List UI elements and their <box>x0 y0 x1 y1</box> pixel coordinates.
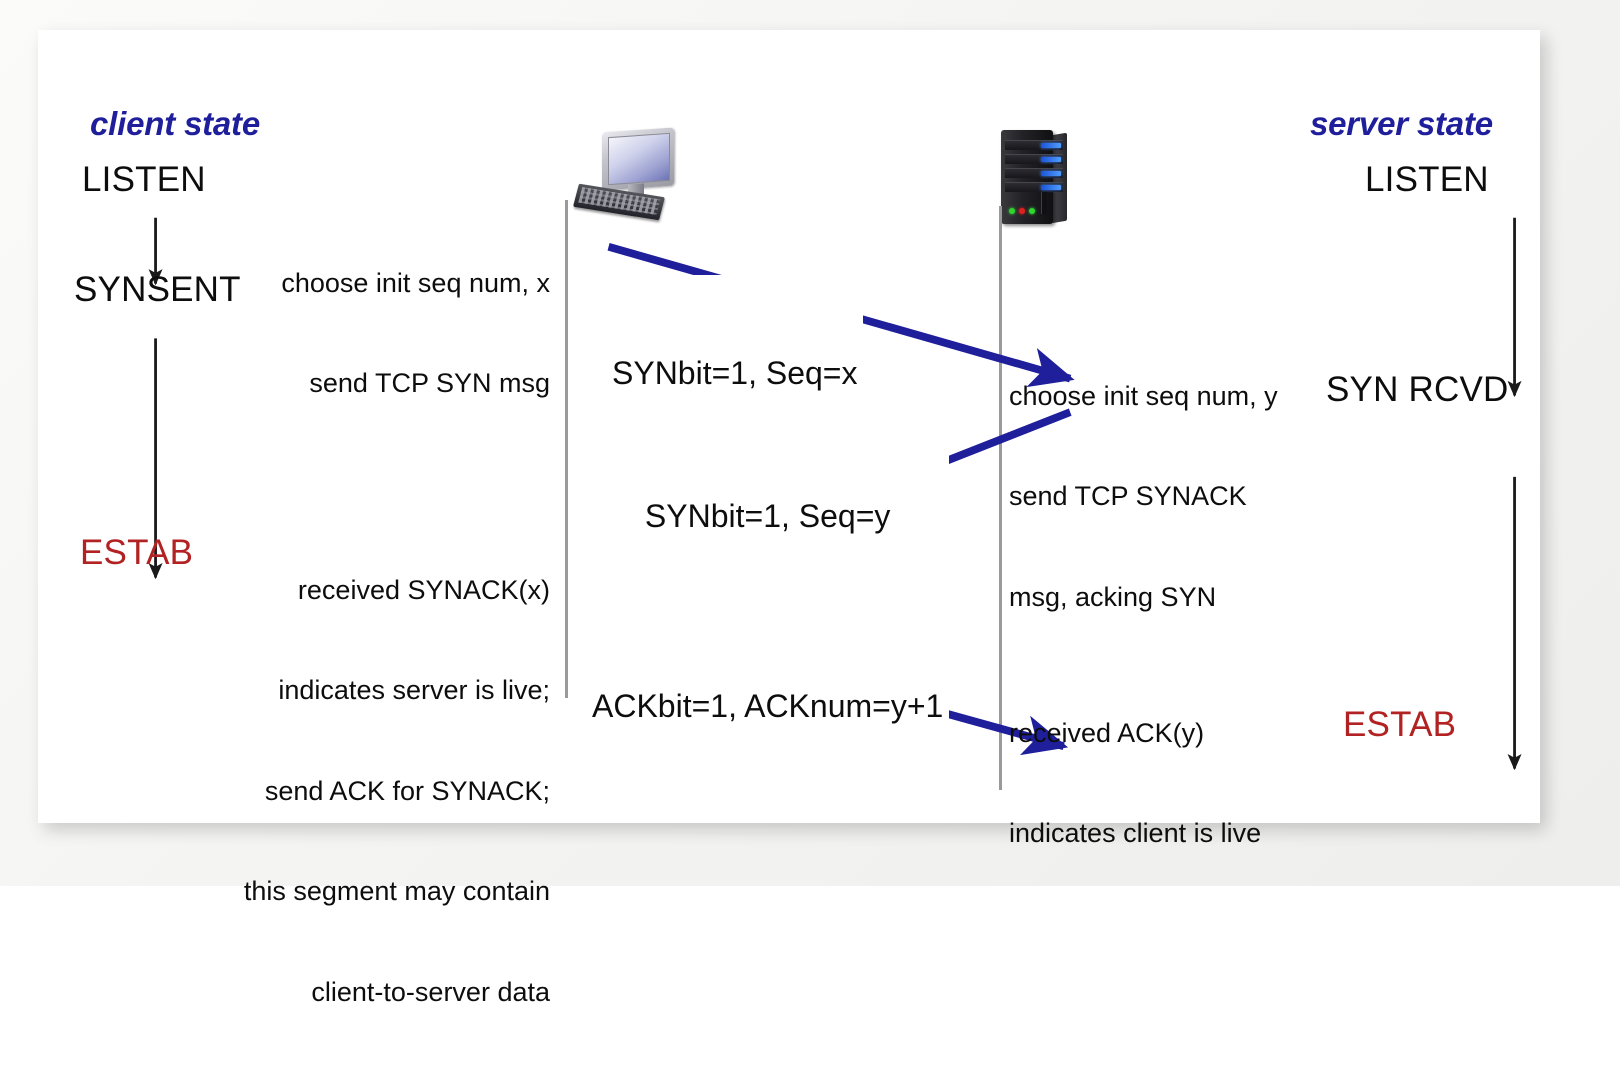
note-line: msg, acking SYN <box>1009 581 1369 614</box>
note-line: indicates client is live <box>1009 817 1349 850</box>
note-line: received SYNACK(x) <box>168 574 550 607</box>
message-label-ack: ACKbit=1, ACKnum=y+1 <box>586 608 949 805</box>
note-line: choose init seq num, x <box>210 267 550 300</box>
blue-led-indicator <box>1041 171 1061 176</box>
diagram-card: client state server state LISTEN SYNSENT… <box>38 30 1540 823</box>
client-state-header: client state <box>90 105 260 143</box>
server-front-slot <box>1041 192 1047 214</box>
server-drive-bay <box>1005 168 1063 178</box>
note-line: send ACK for SYNACK; <box>168 775 550 808</box>
server-state-header: server state <box>1310 105 1493 143</box>
blue-led-indicator <box>1041 157 1061 162</box>
note-line: indicates server is live; <box>168 674 550 707</box>
message-line: SYNbit=1, Seq=x <box>612 354 857 393</box>
note-client-send-syn: choose init seq num, x send TCP SYN msg <box>210 200 550 468</box>
client-state-listen: LISTEN <box>82 160 206 201</box>
red-status-light <box>1019 208 1025 214</box>
note-line: received ACK(y) <box>1009 717 1349 750</box>
desktop-computer-icon <box>574 128 682 226</box>
note-client-received-synack: received SYNACK(x) indicates server is l… <box>168 507 550 1076</box>
message-line: ACKbit=1, ACKnum=y+1 <box>592 687 943 726</box>
monitor-screen <box>608 133 670 185</box>
server-lifeline <box>999 206 1002 790</box>
blue-led-indicator <box>1041 143 1061 148</box>
note-line: client-to-server data <box>168 976 550 1009</box>
server-tower-icon <box>995 128 1081 228</box>
note-line: send TCP SYNACK <box>1009 480 1369 513</box>
green-status-light <box>1029 208 1035 214</box>
server-drive-bay <box>1005 182 1063 192</box>
server-drive-bay <box>1005 140 1063 150</box>
keyboard <box>573 184 665 221</box>
green-status-light <box>1009 208 1015 214</box>
note-line: choose init seq num, y <box>1009 380 1369 413</box>
note-server-send-synack: choose init seq num, y send TCP SYNACK m… <box>1009 313 1369 681</box>
server-drive-bay <box>1005 154 1063 164</box>
client-lifeline <box>565 200 568 698</box>
note-line: send TCP SYN msg <box>210 367 550 400</box>
blue-led-indicator <box>1041 185 1061 190</box>
server-state-listen: LISTEN <box>1365 160 1489 201</box>
note-line: this segment may contain <box>168 875 550 908</box>
server-state-estab: ESTAB <box>1343 705 1456 746</box>
message-line: SYNbit=1, Seq=y <box>592 497 943 536</box>
note-server-received-ack: received ACK(y) indicates client is live <box>1009 650 1349 918</box>
